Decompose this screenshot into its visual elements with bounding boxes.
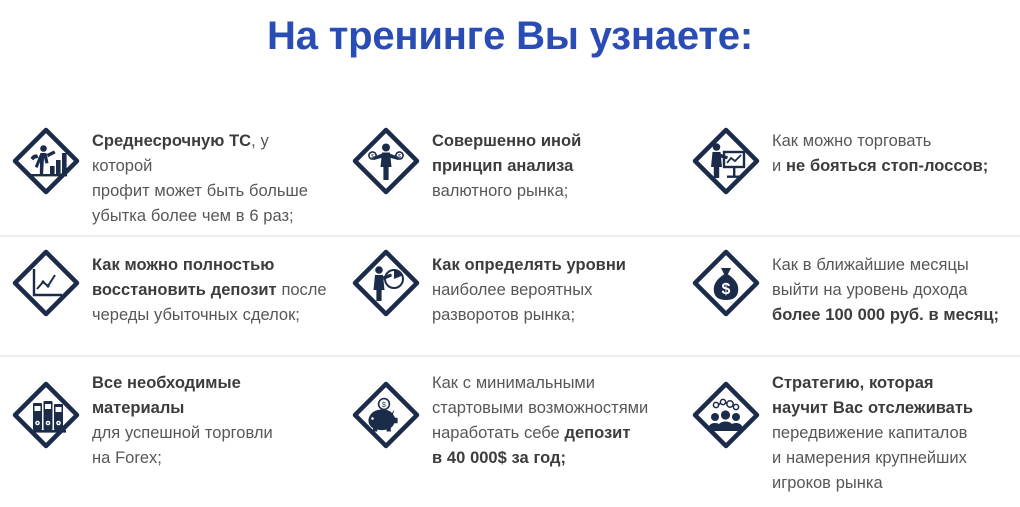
plain-text: наработать себе xyxy=(432,424,565,442)
benefit-text-line: принцип анализа xyxy=(432,154,668,179)
benefit-text-line: для успешной торговли xyxy=(92,421,328,446)
person-climbing-bar-chart-icon xyxy=(10,125,82,197)
emphasis-text: депозит xyxy=(565,424,631,442)
benefit-text-6: Как в ближайшие месяцывыйти на уровень д… xyxy=(772,249,1008,328)
benefit-text-line: Как можно торговать xyxy=(772,129,1008,154)
plain-text: Как можно торговать xyxy=(772,132,931,150)
benefit-text-2: Совершенно инойпринцип анализавалютного … xyxy=(432,125,668,204)
piggy-bank-icon: $ xyxy=(350,379,422,451)
plain-text: выйти на уровень дохода xyxy=(772,281,967,299)
plain-text: наиболее вероятных xyxy=(432,281,592,299)
emphasis-text: восстановить депозит xyxy=(92,281,277,299)
benefit-text-line: игроков рынка xyxy=(772,471,1008,496)
binders-icon xyxy=(10,379,82,451)
plain-text: на Forex; xyxy=(92,449,162,467)
plain-text: профит может быть больше xyxy=(92,182,308,200)
benefit-text-3: Как можно торговатьи не бояться стоп-лос… xyxy=(772,125,1008,179)
emphasis-text: Как определять уровни xyxy=(432,256,626,274)
benefit-text-line: в 40 000$ за год; xyxy=(432,446,668,471)
plain-text: и намерения крупнейших xyxy=(772,449,967,467)
benefit-text-line: череды убыточных сделок; xyxy=(92,303,328,328)
emphasis-text: Все необходимые материалы xyxy=(92,374,241,417)
benefit-text-line: валютного рынка; xyxy=(432,179,668,204)
benefit-text-8: Как с минимальнымистартовыми возможностя… xyxy=(432,369,668,471)
benefit-text-line: убытка более чем в 6 раз; xyxy=(92,204,328,229)
plain-text: Как в ближайшие месяцы xyxy=(772,256,969,274)
benefit-text-line: на Forex; xyxy=(92,446,328,471)
emphasis-text: Среднесрочную ТС xyxy=(92,132,251,150)
benefit-text-line: и не бояться стоп-лоссов; xyxy=(772,154,1008,179)
benefits-grid: Среднесрочную ТС, у которойпрофит может … xyxy=(0,112,1020,505)
plain-text: стартовыми возможностями xyxy=(432,399,648,417)
benefit-item-3: Как можно торговатьи не бояться стоп-лос… xyxy=(680,112,1020,235)
benefit-text-line: Как в ближайшие месяцы xyxy=(772,253,1008,278)
benefit-item-5: Как определять уровнинаиболее вероятныхр… xyxy=(340,235,680,355)
emphasis-text: Совершенно иной xyxy=(432,132,581,150)
benefit-item-4: Как можно полностьювосстановить депозит … xyxy=(0,235,340,355)
benefit-item-2: $ $ Совершенно инойпринцип анализавалютн… xyxy=(340,112,680,235)
money-bag-icon: $ xyxy=(690,247,762,319)
svg-text:$: $ xyxy=(382,402,386,409)
svg-text:$: $ xyxy=(371,154,374,160)
person-holding-money-icon: $ $ xyxy=(350,125,422,197)
plain-text: валютного рынка; xyxy=(432,182,568,200)
benefit-text-line: наиболее вероятных xyxy=(432,278,668,303)
benefit-text-line: научит Вас отслеживать xyxy=(772,396,1008,421)
plain-text: передвижение капиталов xyxy=(772,424,967,442)
svg-text:$: $ xyxy=(722,281,731,298)
benefit-text-line: Среднесрочную ТС, у которой xyxy=(92,129,328,179)
benefit-text-line: разворотов рынка; xyxy=(432,303,668,328)
benefit-text-line: восстановить депозит после xyxy=(92,278,328,303)
benefit-text-4: Как можно полностьювосстановить депозит … xyxy=(92,249,328,328)
svg-text:$: $ xyxy=(398,154,401,160)
benefit-text-line: Как определять уровни xyxy=(432,253,668,278)
benefit-text-line: профит может быть больше xyxy=(92,179,328,204)
benefit-text-line: Все необходимые материалы xyxy=(92,371,328,421)
plain-text: череды убыточных сделок; xyxy=(92,306,300,324)
line-chart-icon xyxy=(10,247,82,319)
benefit-text-line: Как с минимальными xyxy=(432,371,668,396)
page-title: На тренинге Вы узнаете: xyxy=(0,0,1020,56)
emphasis-text: принцип анализа xyxy=(432,157,573,175)
person-with-pie-chart-icon xyxy=(350,247,422,319)
plain-text: убытка более чем в 6 раз; xyxy=(92,207,294,225)
benefit-text-line: Стратегию, которая xyxy=(772,371,1008,396)
emphasis-text: Стратегию, которая xyxy=(772,374,934,392)
benefit-text-9: Стратегию, котораянаучит Вас отслеживать… xyxy=(772,369,1008,496)
benefit-item-8: $ Как с минимальнымистартовыми возможнос… xyxy=(340,355,680,505)
benefit-item-7: Все необходимые материалыдля успешной то… xyxy=(0,355,340,505)
emphasis-text: более 100 000 руб. в месяц; xyxy=(772,306,999,324)
benefit-text-7: Все необходимые материалыдля успешной то… xyxy=(92,369,328,471)
person-at-chart-board-icon xyxy=(690,125,762,197)
plain-text: после xyxy=(277,281,327,299)
benefit-text-line: стартовыми возможностями xyxy=(432,396,668,421)
benefits-page: На тренинге Вы узнаете: xyxy=(0,0,1020,507)
emphasis-text: научит Вас отслеживать xyxy=(772,399,973,417)
plain-text: игроков рынка xyxy=(772,474,883,492)
benefit-text-line: Совершенно иной xyxy=(432,129,668,154)
group-of-people-icon xyxy=(690,379,762,451)
benefit-item-1: Среднесрочную ТС, у которойпрофит может … xyxy=(0,112,340,235)
emphasis-text: в 40 000$ за год; xyxy=(432,449,566,467)
benefit-text-5: Как определять уровнинаиболее вероятныхр… xyxy=(432,249,668,328)
benefit-text-line: и намерения крупнейших xyxy=(772,446,1008,471)
benefit-item-9: Стратегию, котораянаучит Вас отслеживать… xyxy=(680,355,1020,505)
benefit-item-6: $ Как в ближайшие месяцывыйти на уровень… xyxy=(680,235,1020,355)
plain-text: для успешной торговли xyxy=(92,424,273,442)
benefit-text-line: передвижение капиталов xyxy=(772,421,1008,446)
benefit-text-line: более 100 000 руб. в месяц; xyxy=(772,303,1008,328)
plain-text: и xyxy=(772,157,786,175)
benefit-text-line: выйти на уровень дохода xyxy=(772,278,1008,303)
plain-text: Как с минимальными xyxy=(432,374,595,392)
benefit-text-1: Среднесрочную ТС, у которойпрофит может … xyxy=(92,125,328,229)
emphasis-text: не бояться стоп-лоссов; xyxy=(786,157,988,175)
benefit-text-line: наработать себе депозит xyxy=(432,421,668,446)
benefit-text-line: Как можно полностью xyxy=(92,253,328,278)
plain-text: разворотов рынка; xyxy=(432,306,575,324)
emphasis-text: Как можно полностью xyxy=(92,256,274,274)
